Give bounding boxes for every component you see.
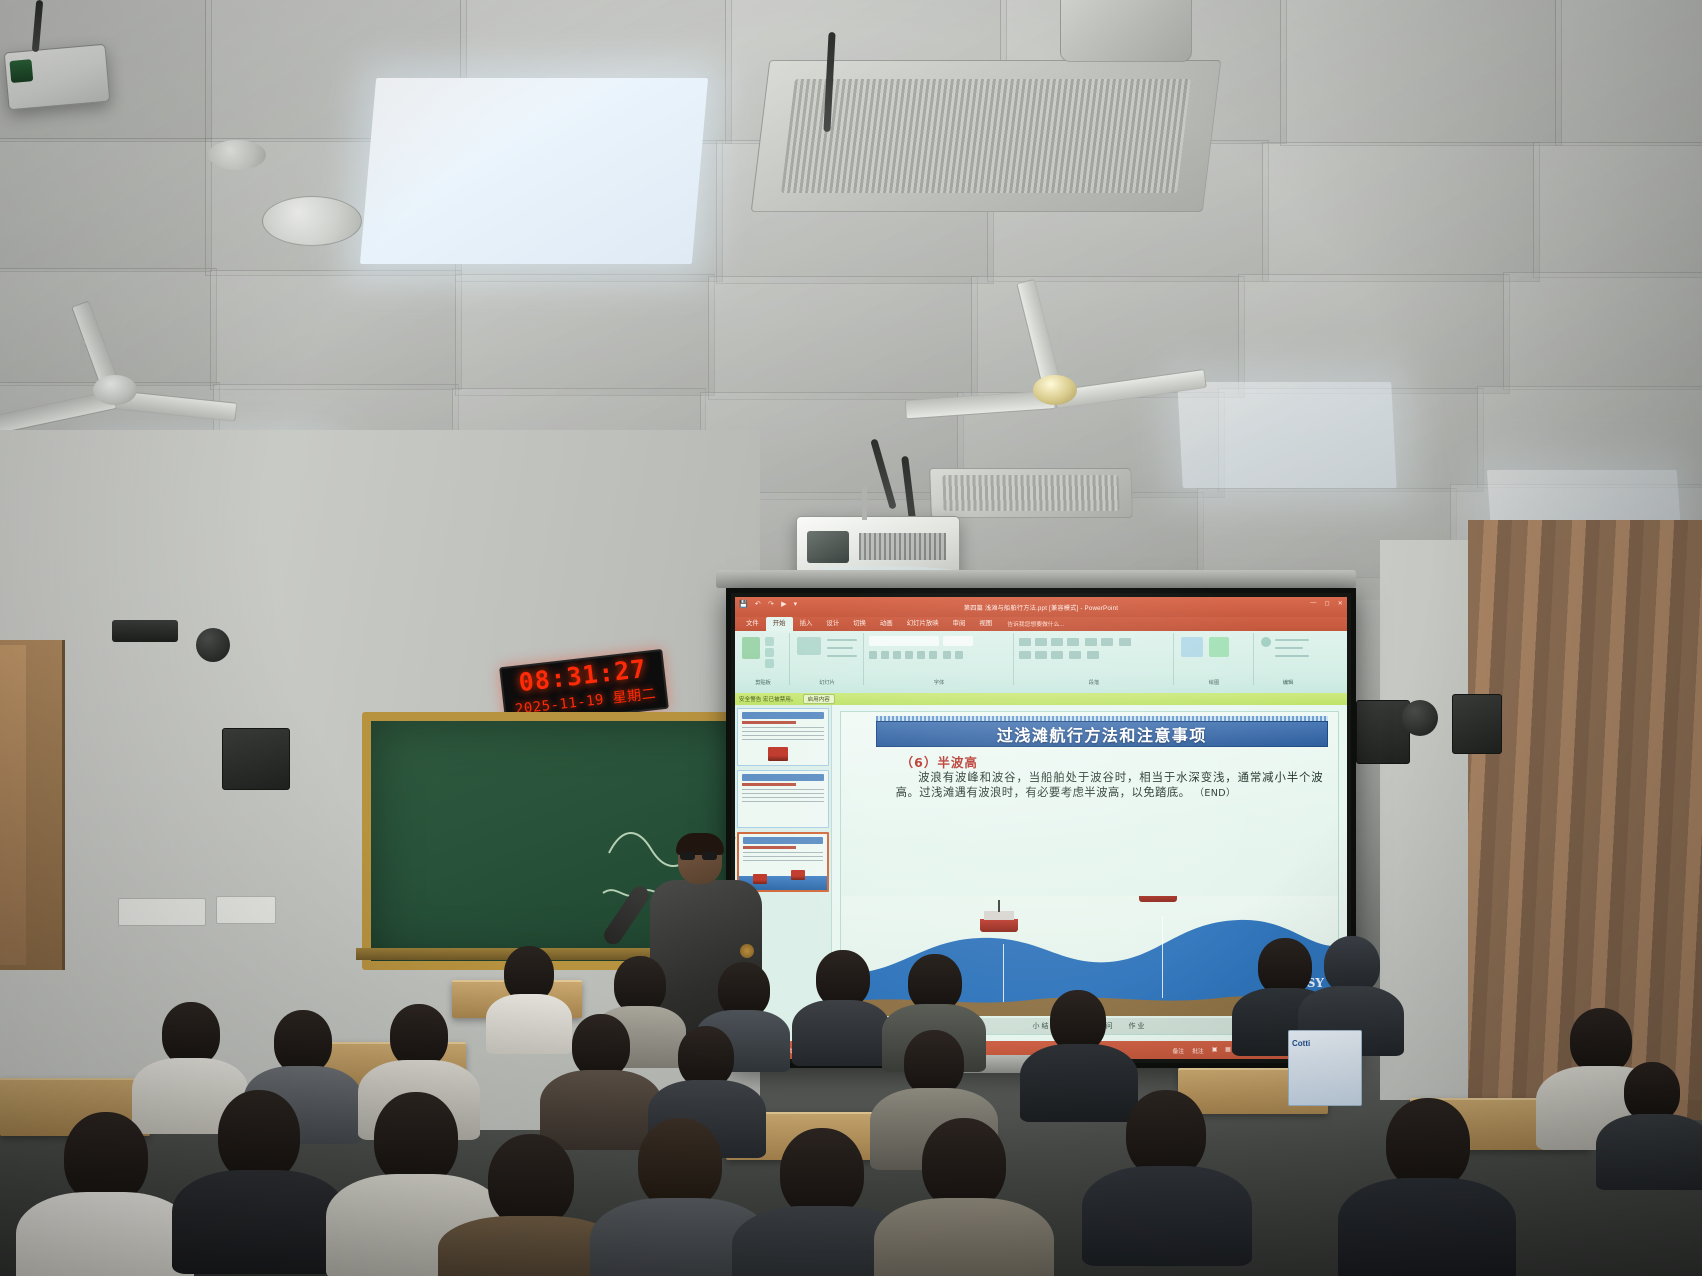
ribbon-group-label: 编辑 [1255,679,1321,686]
tab-view[interactable]: 视图 [972,617,999,631]
ribbon-group-font[interactable]: 字体 [865,633,1014,685]
ribbon-group-label: 幻灯片 [791,679,863,686]
tote-bag: Cotti [1288,1030,1362,1106]
student [452,1134,608,1276]
ribbon-group-drawing[interactable]: 绘图 [1175,633,1254,685]
jacket-emblem [740,944,754,958]
tell-me-box[interactable]: 告诉我您想要做什么... [1007,619,1064,631]
depth-line [1162,916,1163,998]
ceiling-speaker [262,196,362,246]
ceiling-fan [0,350,230,430]
tab-review[interactable]: 审阅 [946,617,973,631]
ribbon-group-slides[interactable]: 幻灯片 [791,633,864,685]
tab-home[interactable]: 开始 [766,617,793,631]
slide-body-text: 波浪有波峰和波谷，当船舶处于波谷时，相当于水深变浅，通常减小半个波高。过浅滩遇有… [896,770,1323,801]
undo-icon[interactable]: ↶ [755,600,761,608]
ceiling-fan [905,342,1205,438]
ptz-camera [196,628,230,662]
security-warning-text: 安全警告 宏已被禁用。 [739,695,797,703]
ceiling-unit [1060,0,1192,62]
view-normal-icon[interactable]: ▣ [1212,1047,1217,1053]
tab-design[interactable]: 设计 [819,617,846,631]
ceiling-light-panel [360,78,708,264]
notes-button[interactable]: 备注 [1172,1046,1184,1055]
ceiling-sensor-box [4,44,111,111]
view-sorter-icon[interactable]: ▦ [1225,1047,1230,1053]
student [888,1118,1040,1276]
wall-speaker [1452,694,1502,754]
ribbon-group-label: 绘图 [1175,679,1253,686]
wall-speaker [1356,700,1410,764]
ribbon-group-editing[interactable]: 编辑 [1255,633,1321,685]
window-controls[interactable]: — ◻ ✕ [1310,600,1343,607]
tab-insert[interactable]: 插入 [793,617,820,631]
ribbon[interactable]: 剪贴板 幻灯片 [735,631,1347,694]
ceiling-light-panel [1177,382,1397,488]
ribbon-tab-bar[interactable]: 文件 开始 插入 设计 切换 动画 幻灯片放映 审阅 视图 告诉我您想要做什么.… [735,617,1347,631]
student [30,1112,180,1276]
tab-animations[interactable]: 动画 [873,617,900,631]
student [796,950,886,1058]
student [1352,1098,1502,1270]
slide-title: 过浅滩航行方法和注意事项 [876,721,1328,747]
close-icon[interactable]: ✕ [1338,600,1343,607]
classroom-photo: 08:31:27 2025-11-19 星期二 💾 ↶ ↷ ▶ ▾ 第四篇 浅滩… [0,0,1702,1276]
wall-outlet-panel[interactable] [118,898,206,926]
quick-access-toolbar[interactable]: 💾 ↶ ↷ ▶ ▾ [739,600,797,608]
slide-thumbnail[interactable]: 59 [737,770,829,828]
bag-brand-text: Cotti [1292,1039,1310,1048]
tab-transitions[interactable]: 切换 [846,617,873,631]
eyeglasses-icon [680,852,720,860]
slideshow-icon[interactable]: ▶ [781,600,787,608]
slide-end-marker: （END） [1194,788,1235,799]
security-warning-bar[interactable]: 安全警告 宏已被禁用。 启用内容 [735,693,1347,705]
student [1604,1062,1702,1182]
maximize-icon[interactable]: ◻ [1325,600,1330,607]
screen-roller [716,570,1356,588]
customize-icon[interactable]: ▾ [794,600,798,608]
tab-file[interactable]: 文件 [739,617,766,631]
enable-content-button[interactable]: 启用内容 [803,694,835,704]
ribbon-group-clipboard[interactable]: 剪贴板 [737,633,790,685]
wall-outlet-panel[interactable] [216,896,276,924]
tab-slideshow[interactable]: 幻灯片放映 [900,617,946,631]
door-frame [0,645,26,965]
powerpoint-title-bar: 💾 ↶ ↷ ▶ ▾ 第四篇 浅滩与船舶行方法.ppt [兼容模式] - Powe… [735,597,1347,617]
smoke-detector [208,140,266,170]
ptz-camera [1402,700,1438,736]
ribbon-group-label: 剪贴板 [737,679,789,686]
ribbon-group-label: 字体 [865,679,1013,686]
ribbon-group-label: 段落 [1015,679,1173,686]
ribbon-group-paragraph[interactable]: 段落 [1015,633,1174,685]
powerpoint-document-title: 第四篇 浅滩与船舶行方法.ppt [兼容模式] - PowerPoint [964,603,1118,612]
student [186,1090,332,1260]
slide-body-sentence: 波浪有波峰和波谷，当船舶处于波谷时，相当于水深变浅，通常减小半个波高。过浅滩遇有… [896,770,1323,799]
student [1094,1090,1238,1256]
redo-icon[interactable]: ↷ [768,600,774,608]
slide-thumbnail[interactable]: 58 [737,708,829,766]
ac-vent [751,60,1222,212]
wall-speaker [222,728,290,790]
depth-line [1003,944,1004,1002]
slide-section-heading: （6）半波高 [901,752,978,771]
minimize-icon[interactable]: — [1310,600,1316,607]
ac-vent [929,468,1133,518]
save-icon[interactable]: 💾 [739,600,748,608]
comments-button[interactable]: 批注 [1192,1046,1204,1055]
footer-item: 作业 [1129,1021,1147,1031]
wall-camera [112,620,178,642]
